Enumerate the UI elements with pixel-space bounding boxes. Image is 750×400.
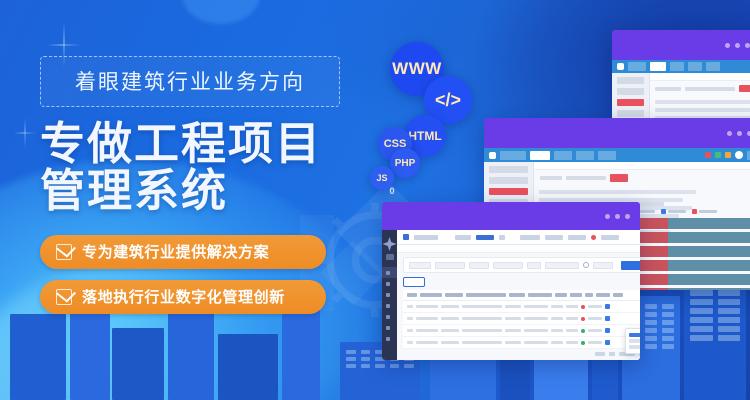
sidebar-item-icon: [386, 304, 390, 308]
headline-line-1: 专做工程项目: [40, 118, 322, 169]
sidebar-item-icon: [386, 337, 390, 341]
feature-badge-2[interactable]: 落地执行行业数字化管理创新: [40, 280, 326, 314]
filter-bar[interactable]: [403, 257, 640, 273]
app-logo-icon: [489, 152, 496, 159]
sidebar-item[interactable]: [382, 278, 397, 289]
sidebar-item-active[interactable]: [489, 188, 528, 195]
building: [218, 334, 278, 400]
sidebar-item[interactable]: [489, 177, 528, 184]
breadcrumb: [534, 162, 750, 170]
advanced-filter-toggle[interactable]: [593, 262, 613, 269]
bubble-php-label: PHP: [395, 158, 416, 169]
notification-icon[interactable]: [591, 235, 596, 240]
nav-item[interactable]: [568, 235, 586, 240]
primary-action-button[interactable]: [610, 174, 628, 182]
context-menu-item[interactable]: [629, 345, 640, 349]
row-action-icon[interactable]: [605, 340, 610, 345]
table-row[interactable]: [403, 313, 640, 325]
app-logo-icon: [383, 237, 397, 251]
legend-entry: [661, 209, 686, 214]
header-title: [500, 151, 526, 160]
search-icon[interactable]: [583, 262, 589, 268]
code-tag-icon: </>: [435, 90, 461, 111]
breadcrumb: [650, 73, 750, 81]
window-dot: [727, 131, 732, 136]
sidebar-item-active[interactable]: [382, 267, 397, 278]
sidebar-item[interactable]: [617, 110, 644, 117]
bubble-php: PHP: [390, 148, 420, 178]
primary-action-button[interactable]: [739, 85, 750, 92]
context-menu[interactable]: [625, 328, 640, 354]
field-label: [655, 87, 681, 91]
breadcrumb: [397, 245, 640, 253]
bubble-www-label: WWW: [392, 59, 442, 79]
window-dot: [735, 43, 740, 48]
table-header-row: [403, 290, 640, 301]
pagination[interactable]: [397, 349, 640, 359]
checkbox-checked-icon: [56, 244, 72, 260]
nav-item[interactable]: [520, 235, 540, 240]
page-title: 专做工程项目 管理系统: [40, 121, 340, 215]
sidebar-item-icon: [386, 282, 390, 286]
field-value: [685, 87, 735, 91]
feature-badge-list: 专为建筑行业提供解决方案 落地执行行业数字化管理创新: [40, 235, 340, 314]
sidebar-item-icon: [386, 293, 390, 297]
field-label: [540, 176, 562, 180]
building: [10, 314, 66, 400]
bubble-zero-label: 0: [389, 186, 394, 196]
status-badge: [581, 305, 585, 309]
bubble-zero: 0: [384, 183, 400, 199]
list-item[interactable]: [655, 100, 750, 104]
sidebar-item[interactable]: [382, 333, 397, 344]
search-input[interactable]: [545, 262, 579, 269]
sparkle-star-small-icon: [14, 118, 36, 148]
app-header: [397, 230, 640, 245]
context-menu-item[interactable]: [629, 333, 640, 337]
header-title: [628, 62, 646, 71]
checkbox-checked-icon: [56, 289, 72, 305]
filter-label: [409, 262, 431, 269]
feature-badge-2-label: 落地执行行业数字化管理创新: [82, 286, 285, 307]
app-logo-icon: [403, 234, 409, 240]
header-title: [414, 235, 438, 240]
row-action-icon[interactable]: [605, 316, 610, 321]
list-item[interactable]: [655, 108, 750, 112]
row-action-icon[interactable]: [605, 328, 610, 333]
app-logo-icon: [617, 63, 624, 70]
bubble-html-label: HTML: [408, 129, 441, 143]
sidebar-item[interactable]: [382, 322, 397, 333]
sidebar-subtitle: [386, 254, 394, 260]
table-row[interactable]: [403, 337, 640, 349]
notification-icon[interactable]: [705, 152, 711, 158]
tab-active[interactable]: [650, 62, 666, 71]
window-dot: [605, 214, 610, 219]
tab-2[interactable]: [554, 151, 572, 160]
window-title-bar: [484, 118, 750, 148]
building: [112, 328, 164, 400]
message-icon[interactable]: [715, 152, 721, 158]
sidebar-item[interactable]: [382, 311, 397, 322]
tagline-text: 着眼建筑行业业务方向: [55, 66, 325, 96]
nav-item-active[interactable]: [476, 235, 494, 240]
filter-label: [527, 262, 541, 269]
sidebar-item[interactable]: [382, 300, 397, 311]
nav-item[interactable]: [545, 235, 563, 240]
tab-3[interactable]: [688, 62, 702, 71]
promotional-banner: 着眼建筑行业业务方向 专做工程项目 管理系统 专为建筑行业提供解决方案 落地执行…: [0, 0, 750, 400]
data-table: [403, 290, 640, 349]
feature-badge-1-label: 专为建筑行业提供解决方案: [82, 241, 269, 262]
row-action-icon[interactable]: [605, 304, 610, 309]
status-badge: [581, 341, 585, 345]
chart-bar: [630, 246, 750, 257]
chart-bar: [630, 274, 750, 285]
chart-bar: [630, 218, 750, 229]
user-menu[interactable]: [601, 235, 619, 240]
chart-bar: [630, 232, 750, 243]
search-button[interactable]: [621, 261, 640, 270]
table-row[interactable]: [403, 301, 640, 313]
chart-legend: [630, 209, 750, 214]
chart-bar: [630, 288, 750, 290]
tagline-box: 着眼建筑行业业务方向: [40, 56, 340, 107]
dashboard-window-front[interactable]: [382, 202, 640, 360]
page-prev[interactable]: [595, 352, 605, 356]
window-body: [382, 230, 640, 360]
nav-item[interactable]: [455, 235, 471, 240]
context-menu-item[interactable]: [629, 339, 640, 343]
feature-badge-1[interactable]: 专为建筑行业提供解决方案: [40, 235, 326, 269]
sidebar-item[interactable]: [617, 88, 644, 95]
tab-4[interactable]: [706, 62, 720, 71]
window-dot: [625, 214, 630, 219]
sidebar-item-active[interactable]: [617, 99, 644, 106]
app-header: [484, 148, 750, 162]
status-badge: [581, 317, 585, 321]
field-value: [566, 176, 606, 180]
filter-label: [469, 262, 489, 269]
tab-3[interactable]: [576, 151, 594, 160]
add-button[interactable]: [403, 277, 425, 287]
alert-icon[interactable]: [725, 152, 731, 158]
avatar[interactable]: [735, 151, 743, 159]
window-dot: [745, 43, 750, 48]
sidebar[interactable]: [382, 230, 397, 360]
sidebar-item-icon: [386, 326, 390, 330]
sidebar-item-icon: [386, 315, 390, 319]
headline-line-2: 管理系统: [40, 168, 340, 215]
window-dot: [725, 43, 730, 48]
sidebar-item[interactable]: [382, 289, 397, 300]
list-item[interactable]: [539, 190, 696, 194]
window-title-bar: [612, 30, 750, 60]
sidebar-item[interactable]: [489, 166, 528, 173]
filter-select[interactable]: [493, 262, 523, 269]
legend-entry: [692, 209, 717, 214]
tab-2[interactable]: [670, 62, 684, 71]
filter-select[interactable]: [435, 262, 465, 269]
status-badge: [581, 329, 585, 333]
blob-top-left: [182, 0, 260, 24]
tab-4[interactable]: [598, 151, 616, 160]
content-pane: [397, 230, 640, 360]
headline-copy-block: 着眼建筑行业业务方向 专做工程项目 管理系统 专为建筑行业提供解决方案 落地执行…: [40, 56, 340, 325]
table-row[interactable]: [403, 325, 640, 337]
window-title-bar: [382, 202, 640, 230]
chart-bar: [630, 260, 750, 271]
app-header: [612, 60, 750, 73]
window-dot: [615, 214, 620, 219]
sidebar-item-icon: [386, 271, 390, 275]
chevron-down-icon[interactable]: [499, 235, 505, 240]
window-dot: [737, 131, 742, 136]
stacked-bar-chart: [630, 202, 750, 290]
bubble-js-label: JS: [376, 173, 387, 183]
tab-active[interactable]: [530, 151, 550, 160]
page-number[interactable]: [609, 352, 615, 356]
sidebar-item[interactable]: [617, 77, 644, 84]
